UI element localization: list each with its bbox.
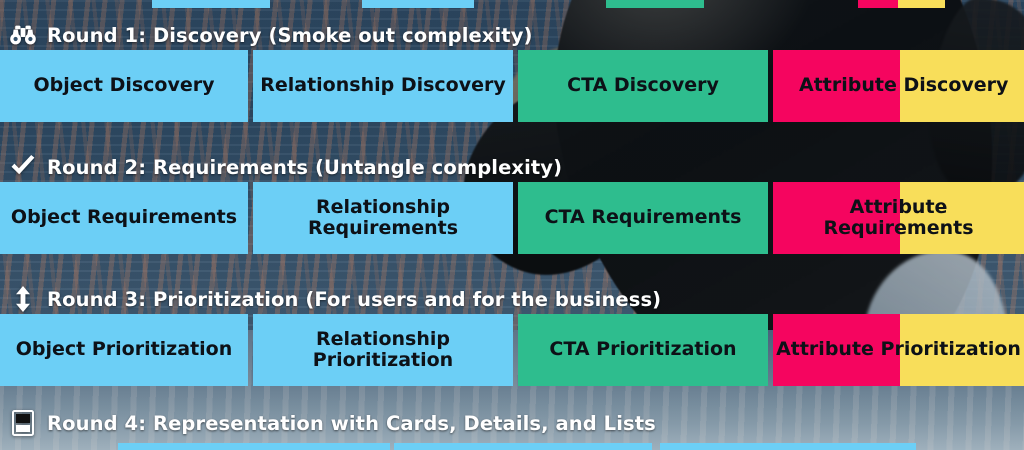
up-down-arrow-icon — [8, 285, 38, 313]
round-4-title: Round 4: Representation with Cards, Deta… — [47, 412, 656, 435]
card-relationship-discovery-label: Relationship Discovery — [253, 75, 513, 96]
top-clipped-card-4-yellow — [898, 0, 945, 8]
bottom-clipped-card-2 — [394, 443, 652, 450]
rounds-deck: Round 1: Discovery (Smoke out complexity… — [0, 0, 1024, 450]
top-clipped-card-3 — [606, 0, 704, 8]
round-1-header: Round 1: Discovery (Smoke out complexity… — [0, 20, 1024, 50]
round-1: Round 1: Discovery (Smoke out complexity… — [0, 20, 1024, 122]
card-relationship-prioritization-label: Relationship Prioritization — [253, 329, 513, 372]
card-layout-icon — [8, 409, 38, 437]
round-2-header: Round 2: Requirements (Untangle complexi… — [0, 152, 1024, 182]
card-cta-requirements[interactable]: CTA Requirements — [518, 182, 768, 254]
card-object-prioritization[interactable]: Object Prioritization — [0, 314, 248, 386]
bottom-clipped-card-1 — [118, 443, 390, 450]
top-clipped-card-1 — [152, 0, 270, 8]
binoculars-icon — [8, 21, 38, 49]
round-3-cards: Object Prioritization Relationship Prior… — [0, 314, 1024, 386]
round-1-title: Round 1: Discovery (Smoke out complexity… — [47, 24, 533, 47]
round-3-title: Round 3: Prioritization (For users and f… — [47, 288, 661, 311]
round-1-cards: Object Discovery Relationship Discovery … — [0, 50, 1024, 122]
card-attribute-discovery[interactable]: Attribute Discovery — [773, 50, 1024, 122]
top-clipped-card-4-pink — [858, 0, 898, 8]
card-attribute-prioritization[interactable]: Attribute Prioritization — [773, 314, 1024, 386]
card-object-requirements[interactable]: Object Requirements — [0, 182, 248, 254]
card-cta-prioritization[interactable]: CTA Prioritization — [518, 314, 768, 386]
card-object-requirements-label: Object Requirements — [0, 207, 248, 228]
round-3: Round 3: Prioritization (For users and f… — [0, 284, 1024, 386]
round-3-header: Round 3: Prioritization (For users and f… — [0, 284, 1024, 314]
card-object-discovery[interactable]: Object Discovery — [0, 50, 248, 122]
round-4-header: Round 4: Representation with Cards, Deta… — [0, 408, 1024, 438]
card-object-discovery-label: Object Discovery — [0, 75, 248, 96]
round-2-cards: Object Requirements Relationship Require… — [0, 182, 1024, 254]
card-relationship-discovery[interactable]: Relationship Discovery — [253, 50, 513, 122]
card-relationship-prioritization[interactable]: Relationship Prioritization — [253, 314, 513, 386]
card-object-prioritization-label: Object Prioritization — [0, 339, 248, 360]
check-icon — [8, 153, 38, 181]
card-cta-discovery[interactable]: CTA Discovery — [518, 50, 768, 122]
card-attribute-prioritization-yellow-half — [900, 314, 1024, 386]
card-cta-discovery-label: CTA Discovery — [518, 75, 768, 96]
card-cta-prioritization-label: CTA Prioritization — [518, 339, 768, 360]
card-relationship-requirements[interactable]: Relationship Requirements — [253, 182, 513, 254]
card-cta-requirements-label: CTA Requirements — [518, 207, 768, 228]
card-attribute-requirements-pink-half — [773, 182, 900, 254]
card-attribute-prioritization-pink-half — [773, 314, 900, 386]
card-relationship-requirements-label: Relationship Requirements — [253, 197, 513, 240]
card-attribute-requirements-yellow-half — [900, 182, 1024, 254]
round-2-title: Round 2: Requirements (Untangle complexi… — [47, 156, 562, 179]
card-attribute-requirements[interactable]: Attribute Requirements — [773, 182, 1024, 254]
round-4: Round 4: Representation with Cards, Deta… — [0, 408, 1024, 438]
round-2: Round 2: Requirements (Untangle complexi… — [0, 152, 1024, 254]
top-clipped-card-2 — [362, 0, 474, 8]
card-attribute-discovery-pink-half — [773, 50, 900, 122]
card-attribute-discovery-yellow-half — [900, 50, 1024, 122]
bottom-clipped-card-3 — [660, 443, 916, 450]
